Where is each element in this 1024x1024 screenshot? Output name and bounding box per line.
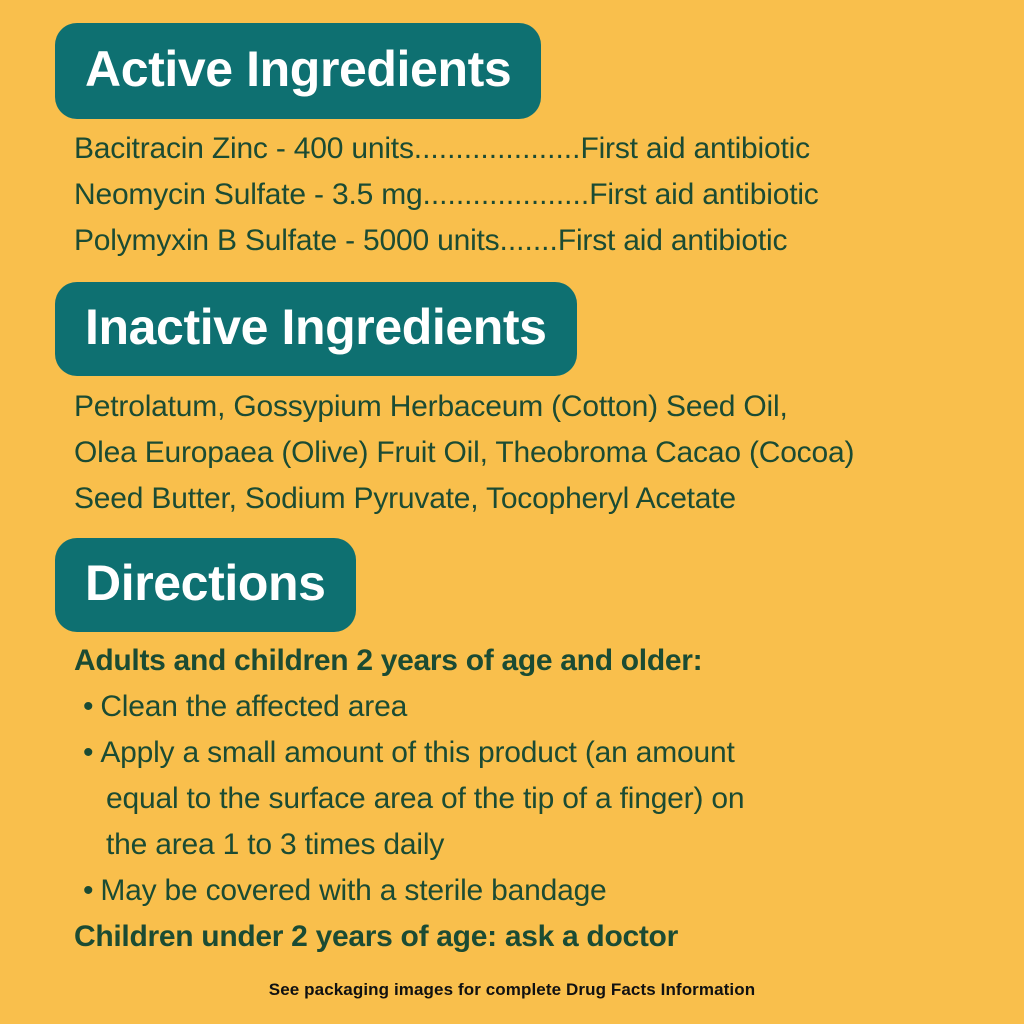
leader-dots: ....... bbox=[499, 224, 557, 257]
leader-dots: .................... bbox=[414, 132, 581, 165]
inactive-ingredients-line: Petrolatum, Gossypium Herbaceum (Cotton)… bbox=[74, 384, 1004, 430]
directions-bullet-item: •May be covered with a sterile bandage bbox=[74, 868, 984, 914]
active-ingredient-name: Bacitracin Zinc - 400 units bbox=[74, 132, 414, 165]
active-ingredient-purpose: First aid antibiotic bbox=[589, 178, 818, 211]
leader-dots: .................... bbox=[422, 178, 589, 211]
directions-bullet-item: •Clean the affected area bbox=[74, 684, 984, 730]
directions-bullet-text: Apply a small amount of this product (an… bbox=[100, 736, 734, 769]
directions-bullet-item: •Apply a small amount of this product (a… bbox=[74, 730, 984, 776]
bullet-dot-icon: • bbox=[83, 874, 93, 907]
active-ingredient-name: Neomycin Sulfate - 3.5 mg bbox=[74, 178, 422, 211]
bullet-dot-icon: • bbox=[83, 736, 93, 769]
active-ingredient-name: Polymyxin B Sulfate - 5000 units bbox=[74, 224, 499, 257]
active-ingredients-list: Bacitracin Zinc - 400 units.............… bbox=[74, 126, 974, 264]
directions-bullet-text: May be covered with a sterile bandage bbox=[100, 874, 606, 907]
inactive-ingredients-list: Petrolatum, Gossypium Herbaceum (Cotton)… bbox=[74, 384, 1004, 522]
footer-note: See packaging images for complete Drug F… bbox=[0, 980, 1024, 1000]
active-ingredient-purpose: First aid antibiotic bbox=[558, 224, 787, 257]
directions-heading: Directions bbox=[55, 538, 356, 632]
inactive-ingredients-line: Olea Europaea (Olive) Fruit Oil, Theobro… bbox=[74, 430, 1004, 476]
directions-bullet-text: the area 1 to 3 times daily bbox=[74, 822, 984, 868]
active-ingredient-row: Neomycin Sulfate - 3.5 mg...............… bbox=[74, 172, 974, 218]
inactive-ingredients-line: Seed Butter, Sodium Pyruvate, Tocopheryl… bbox=[74, 476, 1004, 522]
directions-body: Adults and children 2 years of age and o… bbox=[74, 638, 984, 960]
bullet-dot-icon: • bbox=[83, 690, 93, 723]
active-ingredient-row: Bacitracin Zinc - 400 units.............… bbox=[74, 126, 974, 172]
active-ingredients-heading: Active Ingredients bbox=[55, 23, 541, 119]
inactive-ingredients-heading: Inactive Ingredients bbox=[55, 282, 577, 376]
directions-tail-line: Children under 2 years of age: ask a doc… bbox=[74, 914, 984, 960]
directions-bullet-text: Clean the affected area bbox=[100, 690, 407, 723]
directions-bullet-text: equal to the surface area of the tip of … bbox=[74, 776, 984, 822]
drug-facts-panel: Active Ingredients Bacitracin Zinc - 400… bbox=[0, 0, 1024, 1024]
directions-lead-line: Adults and children 2 years of age and o… bbox=[74, 638, 984, 684]
active-ingredient-row: Polymyxin B Sulfate - 5000 units.......F… bbox=[74, 218, 974, 264]
active-ingredient-purpose: First aid antibiotic bbox=[580, 132, 809, 165]
